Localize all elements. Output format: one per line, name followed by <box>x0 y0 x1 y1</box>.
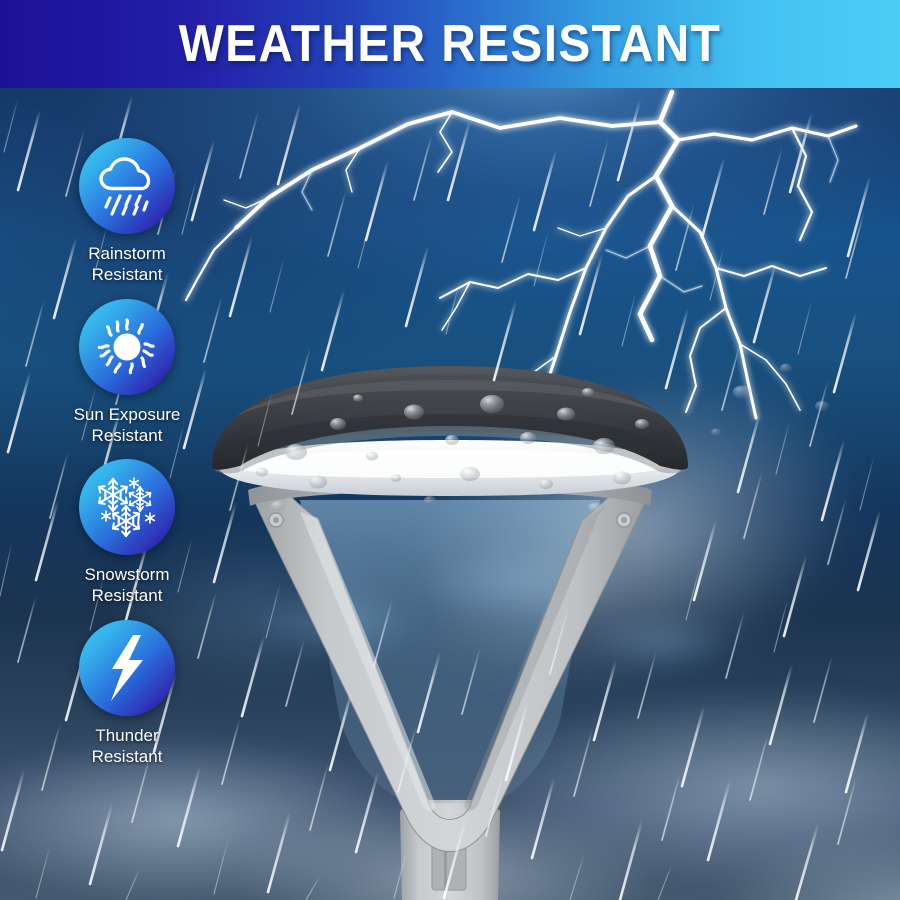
sun-icon <box>94 314 160 380</box>
feature-rainstorm[interactable]: Rainstorm Resistant <box>42 138 212 286</box>
feature-snowstorm[interactable]: Snowstorm Resistant <box>42 459 212 607</box>
badge-snowstorm[interactable] <box>79 459 175 555</box>
feature-sun-exposure[interactable]: Sun Exposure Resistant <box>42 299 212 447</box>
rain-cloud-icon <box>95 155 159 217</box>
page-title: WEATHER RESISTANT <box>179 18 722 70</box>
product-feature-graphic: WEATHER RESISTANT <box>0 0 900 900</box>
feature-thunder[interactable]: Thunder Resistant <box>42 620 212 768</box>
lightning-bolt-icon <box>103 633 151 703</box>
snowflake-icon <box>93 475 161 539</box>
badge-sun-exposure[interactable] <box>79 299 175 395</box>
badge-rainstorm[interactable] <box>79 138 175 234</box>
header-banner: WEATHER RESISTANT <box>0 0 900 88</box>
feature-badge-list: Rainstorm Resistant <box>42 138 212 780</box>
feature-label-sun-exposure: Sun Exposure Resistant <box>74 404 181 447</box>
feature-label-snowstorm: Snowstorm Resistant <box>84 564 169 607</box>
badge-thunder[interactable] <box>79 620 175 716</box>
feature-label-thunder: Thunder Resistant <box>92 725 163 768</box>
feature-label-rainstorm: Rainstorm Resistant <box>88 243 165 286</box>
